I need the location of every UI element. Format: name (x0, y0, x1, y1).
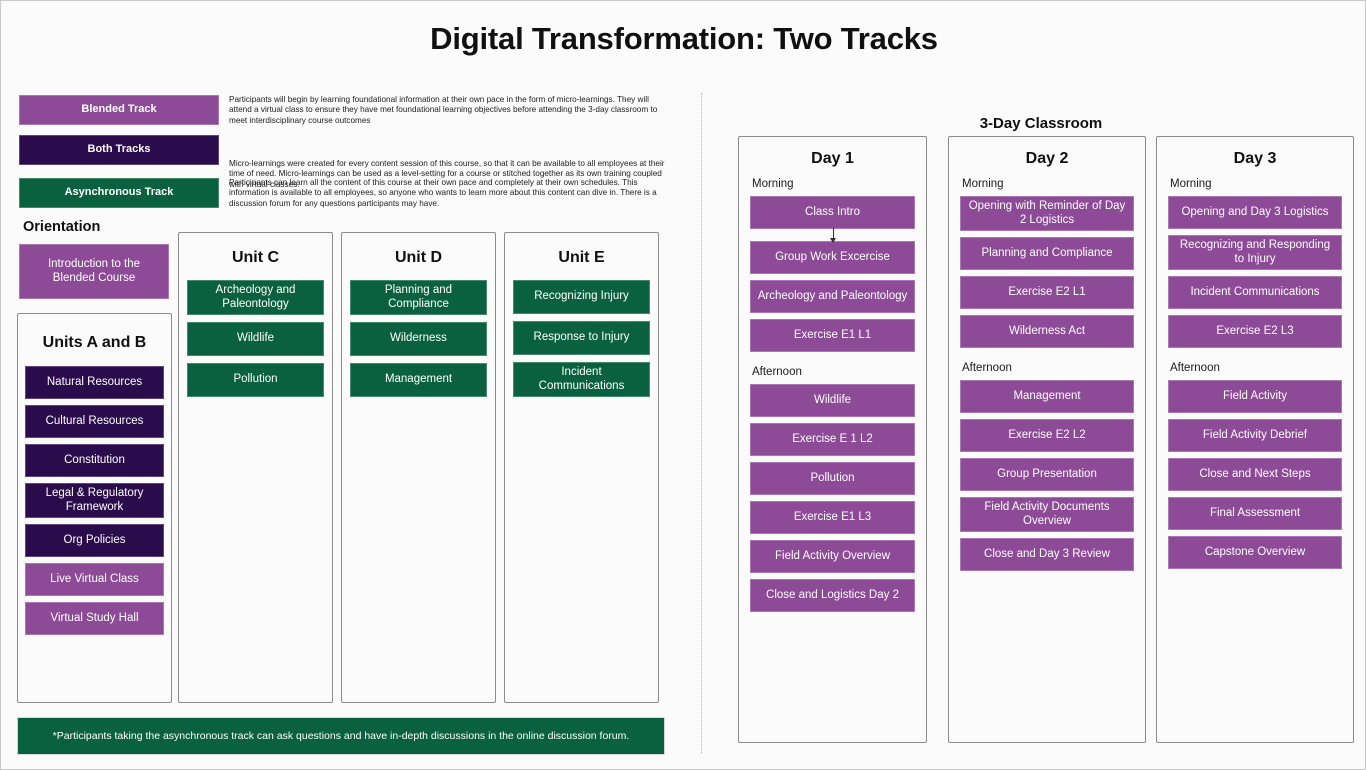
day-3-morning-item-chip: Exercise E2 L3 (1168, 315, 1342, 348)
day-3-afternoon-item-chip: Capstone Overview (1168, 536, 1342, 569)
day-1-afternoon-item-chip: Wildlife (750, 384, 915, 417)
unit-e-card: Unit E Recognizing InjuryResponse to Inj… (504, 232, 659, 703)
day-1-afternoon-item-chip: Close and Logistics Day 2 (750, 579, 915, 612)
day-2-afternoon-item-chip: Close and Day 3 Review (960, 538, 1134, 571)
units-a-and-b-card: Units A and B Natural ResourcesCultural … (17, 313, 172, 703)
day-2-morning-label: Morning (962, 178, 1134, 190)
day-3-afternoon-item-chip: Field Activity Debrief (1168, 419, 1342, 452)
legend-chip-blended-track: Blended Track (19, 95, 219, 125)
day-3-afternoon-label: Afternoon (1170, 362, 1342, 374)
day-2-morning-item-chip: Exercise E2 L1 (960, 276, 1134, 309)
arrow-down-icon (750, 232, 915, 238)
day-2-morning-list: Opening with Reminder of Day 2 Logistics… (960, 196, 1134, 348)
unit-e-item-chip: Response to Injury (513, 321, 650, 355)
units-a-and-b-list: Natural ResourcesCultural ResourcesConst… (18, 366, 171, 635)
unit-c-item-chip: Archeology and Paleontology (187, 280, 324, 315)
asynchronous-track-footnote: *Participants taking the asynchronous tr… (17, 717, 665, 755)
day-3-spacer (1168, 348, 1342, 362)
day-1-card: Day 1 Morning Class IntroGroup Work Exce… (738, 136, 927, 743)
unit-c-list: Archeology and PaleontologyWildlifePollu… (179, 280, 332, 397)
day-3-title: Day 3 (1168, 150, 1342, 168)
units-a-and-b-item-chip: Cultural Resources (25, 405, 164, 438)
day-1-afternoon-item-chip: Exercise E1 L3 (750, 501, 915, 534)
day-1-afternoon-item-chip: Pollution (750, 462, 915, 495)
day-2-morning-item-chip: Wilderness Act (960, 315, 1134, 348)
day-1-spacer (750, 352, 915, 366)
legend-chip-both-tracks: Both Tracks (19, 135, 219, 165)
day-3-afternoon-item-chip: Final Assessment (1168, 497, 1342, 530)
units-a-and-b-item-chip: Legal & Regulatory Framework (25, 483, 164, 518)
day-2-afternoon-item-chip: Group Presentation (960, 458, 1134, 491)
infographic-canvas: Digital Transformation: Two Tracks Blend… (0, 0, 1366, 770)
unit-c-item-chip: Pollution (187, 363, 324, 397)
day-3-morning-item-chip: Incident Communications (1168, 276, 1342, 309)
day-2-spacer (960, 348, 1134, 362)
units-a-and-b-item-chip: Live Virtual Class (25, 563, 164, 596)
day-2-morning-item-chip: Planning and Compliance (960, 237, 1134, 270)
day-3-card: Day 3 Morning Opening and Day 3 Logistic… (1156, 136, 1354, 743)
classroom-heading: 3-Day Classroom (736, 115, 1346, 132)
day-3-afternoon-item-chip: Field Activity (1168, 380, 1342, 413)
day-3-morning-label: Morning (1170, 178, 1342, 190)
units-a-and-b-title: Units A and B (18, 334, 171, 352)
day-1-morning-item-chip: Exercise E1 L1 (750, 319, 915, 352)
unit-d-list: Planning and ComplianceWildernessManagem… (342, 280, 495, 397)
orientation-chip-introduction: Introduction to the Blended Course (19, 244, 169, 299)
orientation-heading: Orientation (23, 219, 100, 235)
day-3-afternoon-list: Field ActivityField Activity DebriefClos… (1168, 380, 1342, 569)
day-1-morning-label: Morning (752, 178, 915, 190)
day-2-afternoon-item-chip: Exercise E2 L2 (960, 419, 1134, 452)
day-2-afternoon-list: ManagementExercise E2 L2Group Presentati… (960, 380, 1134, 571)
unit-c-card: Unit C Archeology and PaleontologyWildli… (178, 232, 333, 703)
day-1-afternoon-label: Afternoon (752, 366, 915, 378)
unit-e-title: Unit E (505, 249, 658, 267)
units-a-and-b-item-chip: Natural Resources (25, 366, 164, 399)
section-divider (701, 93, 702, 753)
unit-d-item-chip: Management (350, 363, 487, 397)
day-3-afternoon-item-chip: Close and Next Steps (1168, 458, 1342, 491)
unit-c-item-chip: Wildlife (187, 322, 324, 356)
legend-description-blended-track: Participants will begin by learning foun… (229, 95, 669, 126)
day-2-afternoon-item-chip: Management (960, 380, 1134, 413)
units-a-and-b-item-chip: Org Policies (25, 524, 164, 557)
day-1-morning-item-chip: Archeology and Paleontology (750, 280, 915, 313)
unit-d-item-chip: Wilderness (350, 322, 487, 356)
day-1-afternoon-item-chip: Exercise E 1 L2 (750, 423, 915, 456)
day-3-morning-item-chip: Recognizing and Responding to Injury (1168, 235, 1342, 270)
unit-d-title: Unit D (342, 249, 495, 267)
day-2-afternoon-item-chip: Field Activity Documents Overview (960, 497, 1134, 532)
page-title: Digital Transformation: Two Tracks (1, 21, 1366, 57)
unit-e-item-chip: Incident Communications (513, 362, 650, 397)
units-a-and-b-item-chip: Constitution (25, 444, 164, 477)
day-1-afternoon-list: WildlifeExercise E 1 L2PollutionExercise… (750, 384, 915, 612)
day-1-title: Day 1 (750, 150, 915, 168)
day-2-afternoon-label: Afternoon (962, 362, 1134, 374)
day-1-morning-item-chip: Group Work Excercise (750, 241, 915, 274)
unit-e-list: Recognizing InjuryResponse to InjuryInci… (505, 280, 658, 397)
unit-d-item-chip: Planning and Compliance (350, 280, 487, 315)
unit-d-card: Unit D Planning and ComplianceWilderness… (341, 232, 496, 703)
day-1-afternoon-item-chip: Field Activity Overview (750, 540, 915, 573)
legend-description-asynchronous-track: Participants can learn all the content o… (229, 178, 669, 209)
day-1-morning-list: Class IntroGroup Work ExcerciseArcheolog… (750, 196, 915, 352)
day-1-morning-item-chip: Class Intro (750, 196, 915, 229)
unit-e-item-chip: Recognizing Injury (513, 280, 650, 314)
day-2-title: Day 2 (960, 150, 1134, 168)
legend-chip-asynchronous-track: Asynchronous Track (19, 178, 219, 208)
day-3-morning-list: Opening and Day 3 LogisticsRecognizing a… (1168, 196, 1342, 348)
day-2-card: Day 2 Morning Opening with Reminder of D… (948, 136, 1146, 743)
day-3-morning-item-chip: Opening and Day 3 Logistics (1168, 196, 1342, 229)
unit-c-title: Unit C (179, 249, 332, 267)
day-2-morning-item-chip: Opening with Reminder of Day 2 Logistics (960, 196, 1134, 231)
units-a-and-b-item-chip: Virtual Study Hall (25, 602, 164, 635)
